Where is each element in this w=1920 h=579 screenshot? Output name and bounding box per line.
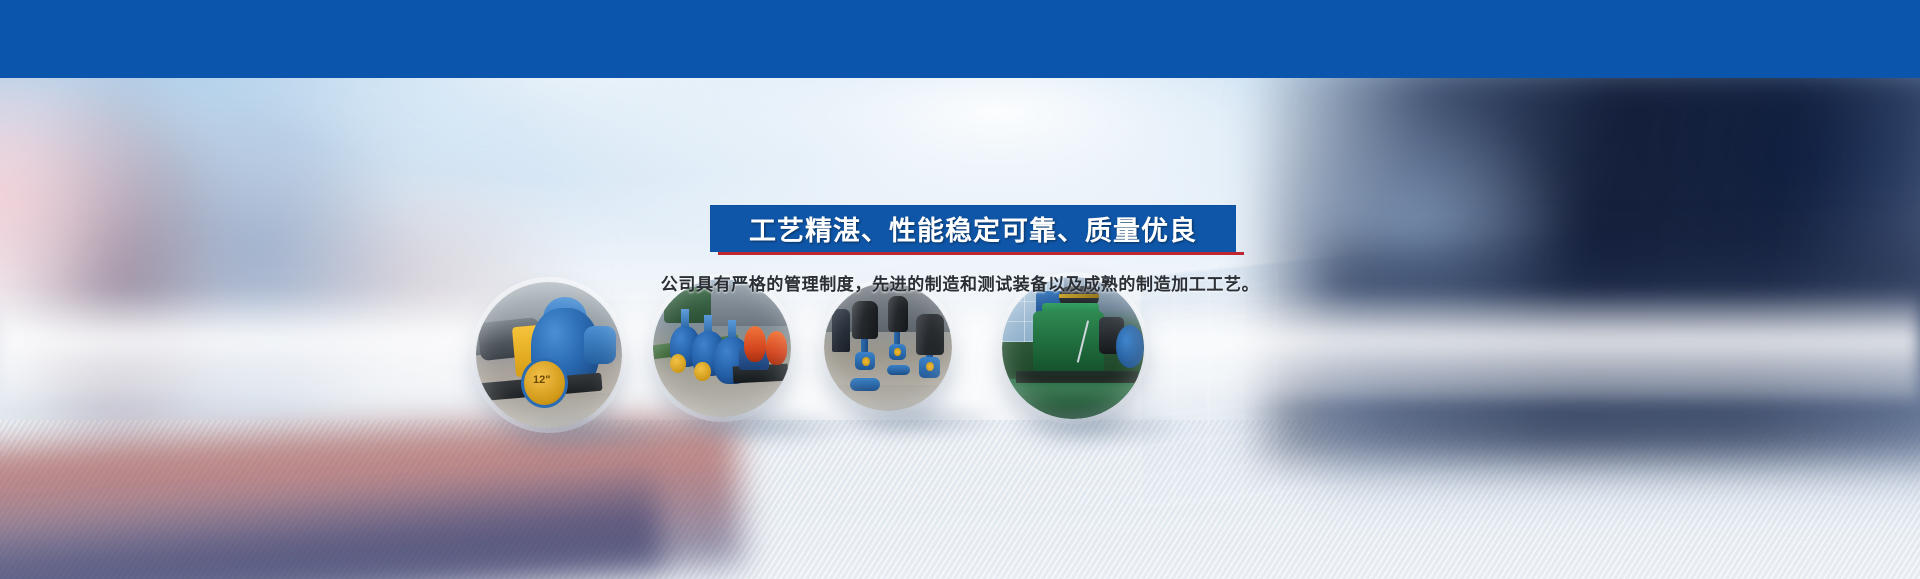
headline-underline (718, 252, 1244, 255)
circle-2-vignette (653, 279, 791, 417)
circle-1-vignette (476, 282, 622, 428)
circle-3-vignette (824, 283, 952, 411)
circle-4-vignette (1002, 277, 1144, 419)
product-circle-split-case-pump[interactable]: 12" (476, 282, 622, 428)
product-circle-vertical-inline-pumps[interactable] (824, 283, 952, 411)
product-circle-slurry-pump-row[interactable] (653, 279, 791, 417)
horizon-haze (0, 290, 1920, 400)
top-blue-bar (0, 0, 1920, 78)
hero-banner: 工艺精湛、性能稳定可靠、质量优良 公司具有严格的管理制度，先进的制造和测试装备以… (0, 0, 1920, 579)
subtitle-text: 公司具有严格的管理制度，先进的制造和测试装备以及成熟的制造加工工艺。 (0, 270, 1920, 295)
headline-text: 工艺精湛、性能稳定可靠、质量优良 (710, 205, 1236, 252)
product-circle-diesel-engine-pump-set[interactable] (1002, 277, 1144, 419)
